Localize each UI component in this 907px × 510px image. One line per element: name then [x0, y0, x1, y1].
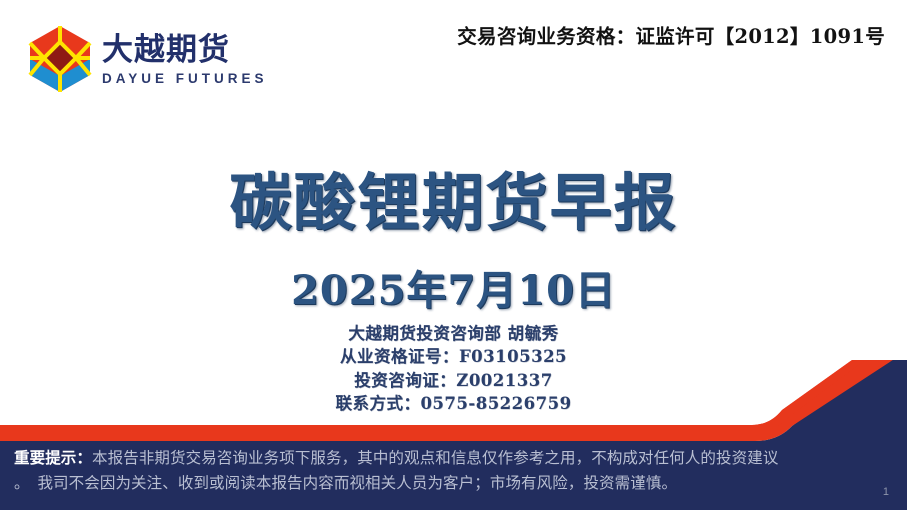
page-number: 1: [883, 486, 889, 498]
notice-text-1: 本报告非期货交易咨询业务项下服务，其中的观点和信息仅作参考之用，不构成对任何人的…: [92, 449, 778, 467]
report-date: 2025年7月10日: [0, 258, 907, 316]
contact-qualification-number: 从业资格证号：F03105325: [0, 345, 907, 368]
notice-label: 重要提示：: [14, 448, 92, 467]
report-title: 碳酸锂期货早报: [0, 152, 907, 242]
contact-department: 大越期货投资咨询部 胡毓秀: [0, 322, 907, 345]
brand-name-en: DAYUE FUTURES: [102, 71, 268, 86]
brand-name-cn: 大越期货: [102, 34, 268, 67]
slide-root: 大越期货 DAYUE FUTURES 交易咨询业务资格：证监许可【2012】10…: [0, 0, 907, 510]
analyst-contact-block: 大越期货投资咨询部 胡毓秀 从业资格证号：F03105325 投资咨询证：Z00…: [0, 322, 907, 416]
qualification-statement: 交易咨询业务资格：证监许可【2012】1091号: [457, 20, 885, 49]
contact-phone: 联系方式：0575-85226759: [0, 392, 907, 415]
notice-line-1: 重要提示：本报告非期货交易咨询业务项下服务，其中的观点和信息仅作参考之用，不构成…: [0, 445, 907, 471]
contact-advisory-license: 投资咨询证：Z0021337: [0, 369, 907, 392]
important-notice: 重要提示：本报告非期货交易咨询业务项下服务，其中的观点和信息仅作参考之用，不构成…: [0, 431, 907, 510]
notice-line-2: 。 我司不会因为关注、收到或阅读本报告内容而视相关人员为客户；市场有风险，投资需…: [0, 471, 907, 496]
brand-wordmark: 大越期货 DAYUE FUTURES: [102, 32, 268, 87]
dayue-hexagon-logo-icon: [28, 24, 92, 94]
brand-logo: 大越期货 DAYUE FUTURES: [28, 24, 268, 94]
